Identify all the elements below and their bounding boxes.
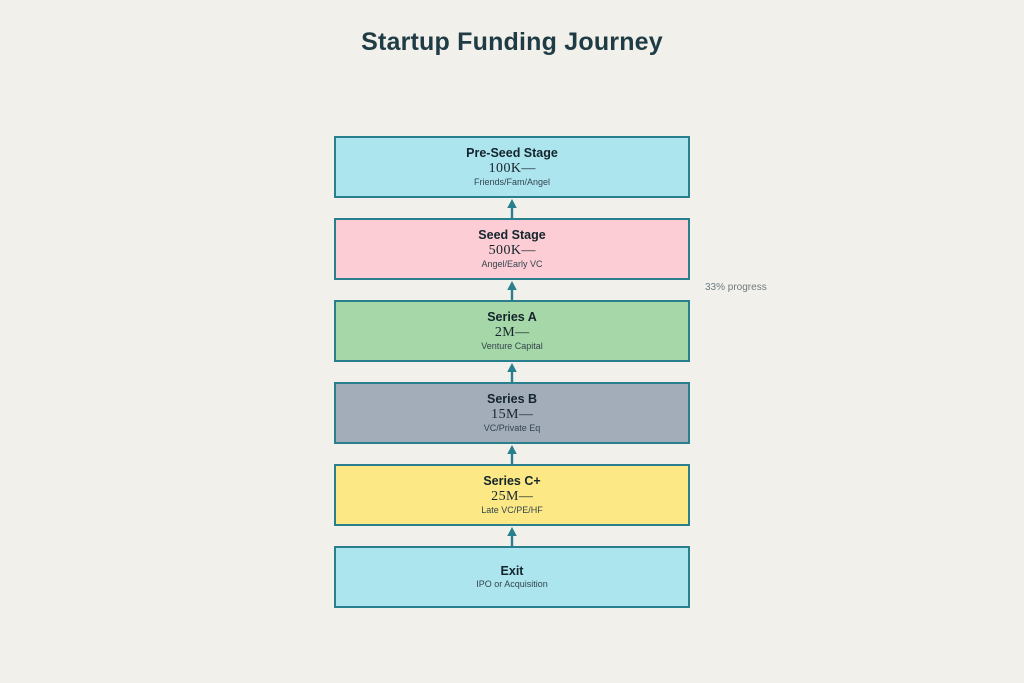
node-title: Series C+ (483, 475, 540, 488)
node-amount-value: 500K (489, 243, 522, 258)
flow-node-series-a[interactable]: Series A2M—Venture Capital (334, 300, 690, 362)
node-amount: 100K— (489, 162, 536, 177)
node-amount-value: 100K (489, 161, 522, 176)
node-amount-suffix: — (521, 243, 535, 258)
node-title: Series B (487, 393, 537, 406)
node-amount-value: 15M (491, 407, 519, 422)
node-title: Pre-Seed Stage (466, 147, 558, 160)
page-title: Startup Funding Journey (0, 28, 1024, 57)
flow-node-series-b[interactable]: Series B15M—VC/Private Eq (334, 382, 690, 444)
node-amount: 25M— (491, 490, 533, 505)
node-title: Series A (487, 311, 537, 324)
flow-arrow-series-b-to-series-a (334, 362, 690, 382)
node-subtitle: Friends/Fam/Angel (474, 178, 550, 188)
node-subtitle: Late VC/PE/HF (481, 506, 543, 516)
node-amount: 15M— (491, 408, 533, 423)
node-subtitle: IPO or Acquisition (476, 580, 548, 590)
flow-arrow-seed-to-pre-seed (334, 198, 690, 218)
node-subtitle: Angel/Early VC (481, 260, 542, 270)
node-amount-suffix: — (515, 325, 529, 340)
edge-label-progress: 33% progress (705, 282, 767, 293)
node-title: Exit (501, 565, 524, 578)
flow-node-exit[interactable]: ExitIPO or Acquisition (334, 546, 690, 608)
node-amount-value: 2M (495, 325, 515, 340)
node-subtitle: Venture Capital (481, 342, 543, 352)
node-subtitle: VC/Private Eq (484, 424, 541, 434)
funding-flowchart: Pre-Seed Stage100K—Friends/Fam/AngelSeed… (334, 136, 690, 608)
flow-node-seed[interactable]: Seed Stage500K—Angel/Early VC (334, 218, 690, 280)
flow-arrow-series-c-plus-to-series-b (334, 444, 690, 464)
flow-node-series-c-plus[interactable]: Series C+25M—Late VC/PE/HF (334, 464, 690, 526)
node-amount-suffix: — (521, 161, 535, 176)
flow-arrow-exit-to-series-c-plus (334, 526, 690, 546)
node-title: Seed Stage (478, 229, 545, 242)
flow-arrow-series-a-to-seed (334, 280, 690, 300)
node-amount-suffix: — (519, 407, 533, 422)
flow-node-pre-seed[interactable]: Pre-Seed Stage100K—Friends/Fam/Angel (334, 136, 690, 198)
node-amount-suffix: — (519, 489, 533, 504)
node-amount: 500K— (489, 244, 536, 259)
node-amount-value: 25M (491, 489, 519, 504)
node-amount: 2M— (495, 326, 529, 341)
